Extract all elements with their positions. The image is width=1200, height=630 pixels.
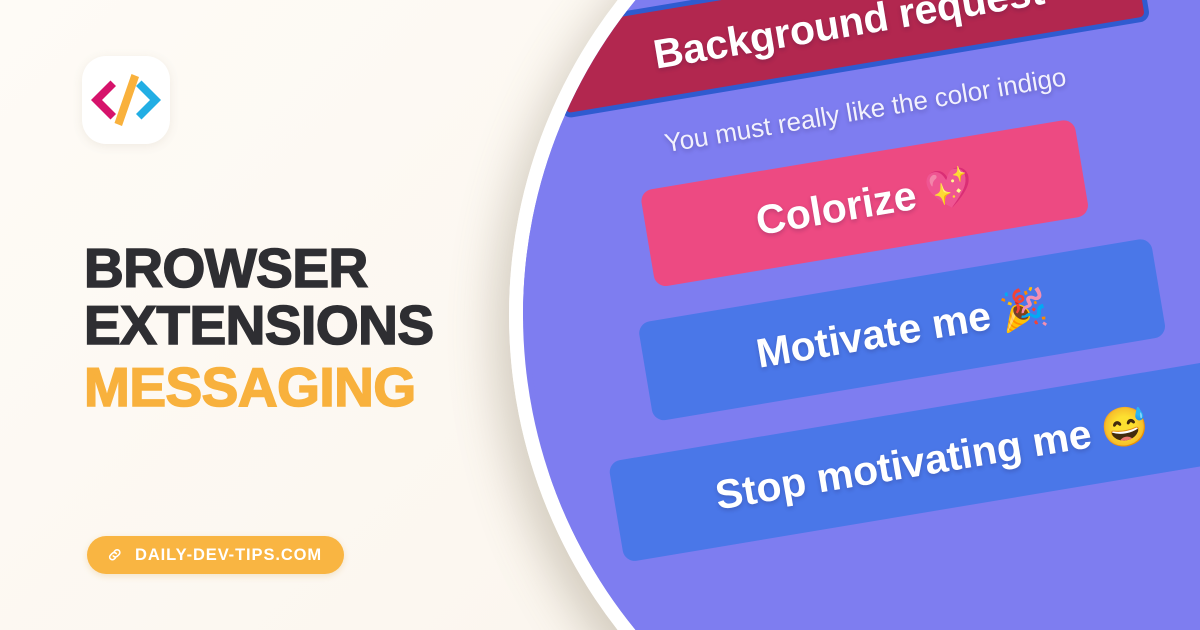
extension-popup-panel: Background request You must really like … — [523, 0, 1200, 630]
motivate-me-button-label: Motivate me — [753, 292, 994, 377]
headline-line-2: EXTENSIONS — [84, 297, 514, 354]
site-url-text: DAILY-DEV-TIPS.COM — [135, 546, 322, 565]
grinning-sweat-emoji: 😅 — [1097, 401, 1152, 453]
party-popper-emoji: 🎉 — [997, 283, 1052, 335]
code-brackets-icon — [82, 56, 170, 144]
sparkling-heart-emoji: 💖 — [922, 163, 977, 215]
site-url-badge[interactable]: DAILY-DEV-TIPS.COM — [87, 536, 344, 574]
headline-line-1: BROWSER — [84, 240, 514, 297]
left-content-panel: BROWSER EXTENSIONS MESSAGING DAILY-DEV-T… — [0, 0, 540, 630]
page-title: BROWSER EXTENSIONS MESSAGING — [84, 240, 514, 416]
stop-motivating-me-button-label: Stop motivating me — [712, 410, 1095, 519]
background-request-button-label: Background request — [650, 0, 1047, 78]
link-icon — [106, 546, 124, 564]
colorize-button-label: Colorize — [752, 171, 919, 244]
headline-line-3: MESSAGING — [84, 359, 514, 416]
site-logo — [82, 56, 170, 144]
poster-stage: Background request You must really like … — [0, 0, 1200, 630]
extension-screenshot-circle: Background request You must really like … — [523, 0, 1200, 630]
